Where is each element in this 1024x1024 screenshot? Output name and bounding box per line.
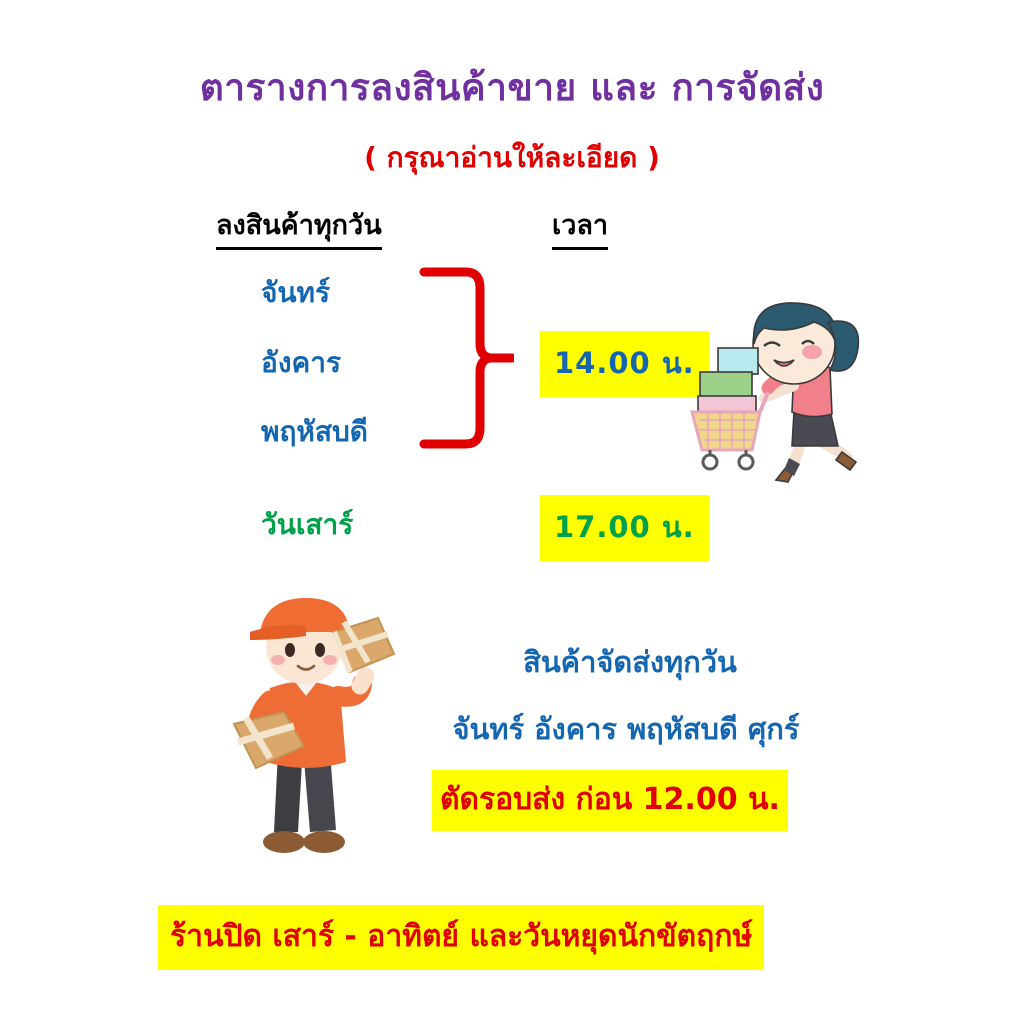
day-monday: จันทร์: [261, 271, 330, 315]
shipping-heading: สินค้าจัดส่งทุกวัน: [400, 639, 860, 685]
curly-brace-icon: [418, 266, 514, 450]
day-saturday: วันเสาร์: [261, 503, 353, 547]
time-saturday-chip: 17.00 น.: [540, 495, 709, 561]
page-title: ตารางการลงสินค้าขาย และ การจัดส่ง: [0, 58, 1024, 117]
day-tuesday: อังคาร: [261, 341, 341, 385]
closed-days-banner: ร้านปิด เสาร์ - อาทิตย์ และวันหยุดนักขัต…: [158, 905, 764, 970]
shipping-cutoff-banner: ตัดรอบส่ง ก่อน 12.00 น.: [432, 770, 788, 831]
girl-shopping-cart-illustration: [690, 300, 880, 500]
column-header-time: เวลา: [552, 203, 608, 250]
column-header-days: ลงสินค้าทุกวัน: [216, 203, 382, 250]
page-subtitle: ( กรุณาอ่านให้ละเอียด ): [0, 136, 1024, 180]
shop-schedule-poster: ตารางการลงสินค้าขาย และ การจัดส่ง ( กรุณ…: [0, 0, 1024, 1024]
day-thursday: พฤหัสบดี: [261, 410, 368, 454]
shipping-days: จันทร์ อังคาร พฤหัสบดี ศุกร์: [376, 706, 876, 752]
time-weekday-chip: 14.00 น.: [540, 331, 709, 397]
